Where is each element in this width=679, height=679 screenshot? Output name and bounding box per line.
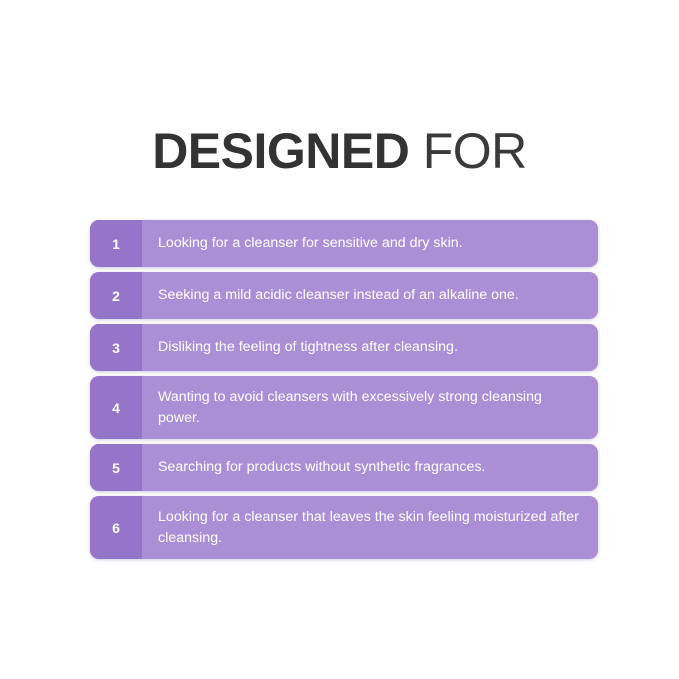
list-item-text: Wanting to avoid cleansers with excessiv… <box>142 376 598 439</box>
designed-for-list: 1 Looking for a cleanser for sensitive a… <box>90 220 598 559</box>
list-item: 2 Seeking a mild acidic cleanser instead… <box>90 272 598 319</box>
list-item-number: 4 <box>90 376 142 439</box>
infographic-canvas: DESIGNED FOR 1 Looking for a cleanser fo… <box>0 0 679 679</box>
list-item-number: 3 <box>90 324 142 371</box>
list-item-number: 1 <box>90 220 142 267</box>
list-item: 4 Wanting to avoid cleansers with excess… <box>90 376 598 439</box>
page-title-strong: DESIGNED <box>152 123 409 179</box>
list-item-text: Seeking a mild acidic cleanser instead o… <box>142 272 598 319</box>
list-item-text: Looking for a cleanser that leaves the s… <box>142 496 598 559</box>
list-item-text: Disliking the feeling of tightness after… <box>142 324 598 371</box>
list-item-text: Searching for products without synthetic… <box>142 444 598 491</box>
list-item-text: Looking for a cleanser for sensitive and… <box>142 220 598 267</box>
list-item-number: 5 <box>90 444 142 491</box>
list-item: 1 Looking for a cleanser for sensitive a… <box>90 220 598 267</box>
list-item: 3 Disliking the feeling of tightness aft… <box>90 324 598 371</box>
list-item-number: 6 <box>90 496 142 559</box>
list-item: 6 Looking for a cleanser that leaves the… <box>90 496 598 559</box>
page-title-light: FOR <box>409 123 526 179</box>
list-item: 5 Searching for products without synthet… <box>90 444 598 491</box>
page-title: DESIGNED FOR <box>0 126 679 176</box>
list-item-number: 2 <box>90 272 142 319</box>
